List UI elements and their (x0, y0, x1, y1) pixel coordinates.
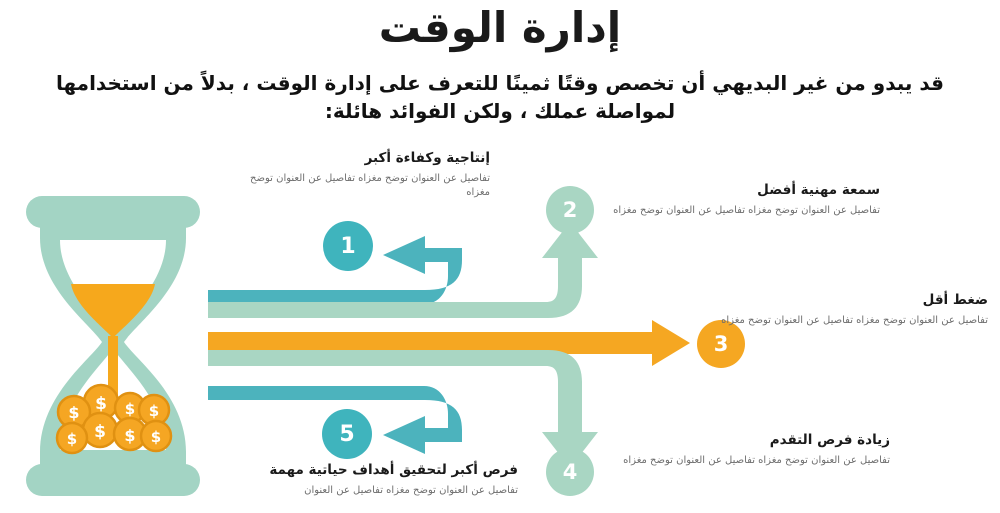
item-4-text: زيادة فرص التقدم تفاصيل عن العنوان توضح … (608, 432, 890, 468)
page-subtitle: قد يبدو من غير البديهي أن تخصص وقتًا ثمي… (50, 70, 950, 125)
item-1-text: إنتاجية وكفاءة أكبر تفاصيل عن العنوان تو… (240, 150, 490, 200)
item-5-heading: فرص أكبر لتحقيق أهداف حياتية مهمة (256, 462, 518, 480)
page-title: إدارة الوقت (0, 4, 1000, 52)
step-circle-5[interactable]: 5 (322, 409, 372, 459)
item-2-heading: سمعة مهنية أفضل (608, 182, 880, 200)
item-1-body: تفاصيل عن العنوان توضح مغزاه تفاصيل عن ا… (240, 172, 490, 200)
item-3-text: ضغط أقل تفاصيل عن العنوان توضح مغزاه تفا… (710, 292, 988, 328)
item-1-heading: إنتاجية وكفاءة أكبر (240, 150, 490, 168)
item-3-body: تفاصيل عن العنوان توضح مغزاه تفاصيل عن ا… (710, 314, 988, 328)
step-circle-4[interactable]: 4 (546, 448, 594, 496)
infographic-canvas: إدارة الوقت قد يبدو من غير البديهي أن تخ… (0, 0, 1000, 513)
step-circle-2[interactable]: 2 (546, 186, 594, 234)
item-2-text: سمعة مهنية أفضل تفاصيل عن العنوان توضح م… (608, 182, 880, 218)
item-2-body: تفاصيل عن العنوان توضح مغزاه تفاصيل عن ا… (608, 204, 880, 218)
item-4-heading: زيادة فرص التقدم (608, 432, 890, 450)
step-circle-1[interactable]: 1 (323, 221, 373, 271)
item-4-body: تفاصيل عن العنوان توضح مغزاه تفاصيل عن ا… (608, 454, 890, 468)
item-3-heading: ضغط أقل (710, 292, 988, 310)
item-5-text: فرص أكبر لتحقيق أهداف حياتية مهمة تفاصيل… (256, 462, 518, 498)
item-5-body: تفاصيل عن العنوان توضح مغزاه تفاصيل عن ا… (256, 484, 518, 498)
arrow-4-mint (208, 350, 598, 468)
